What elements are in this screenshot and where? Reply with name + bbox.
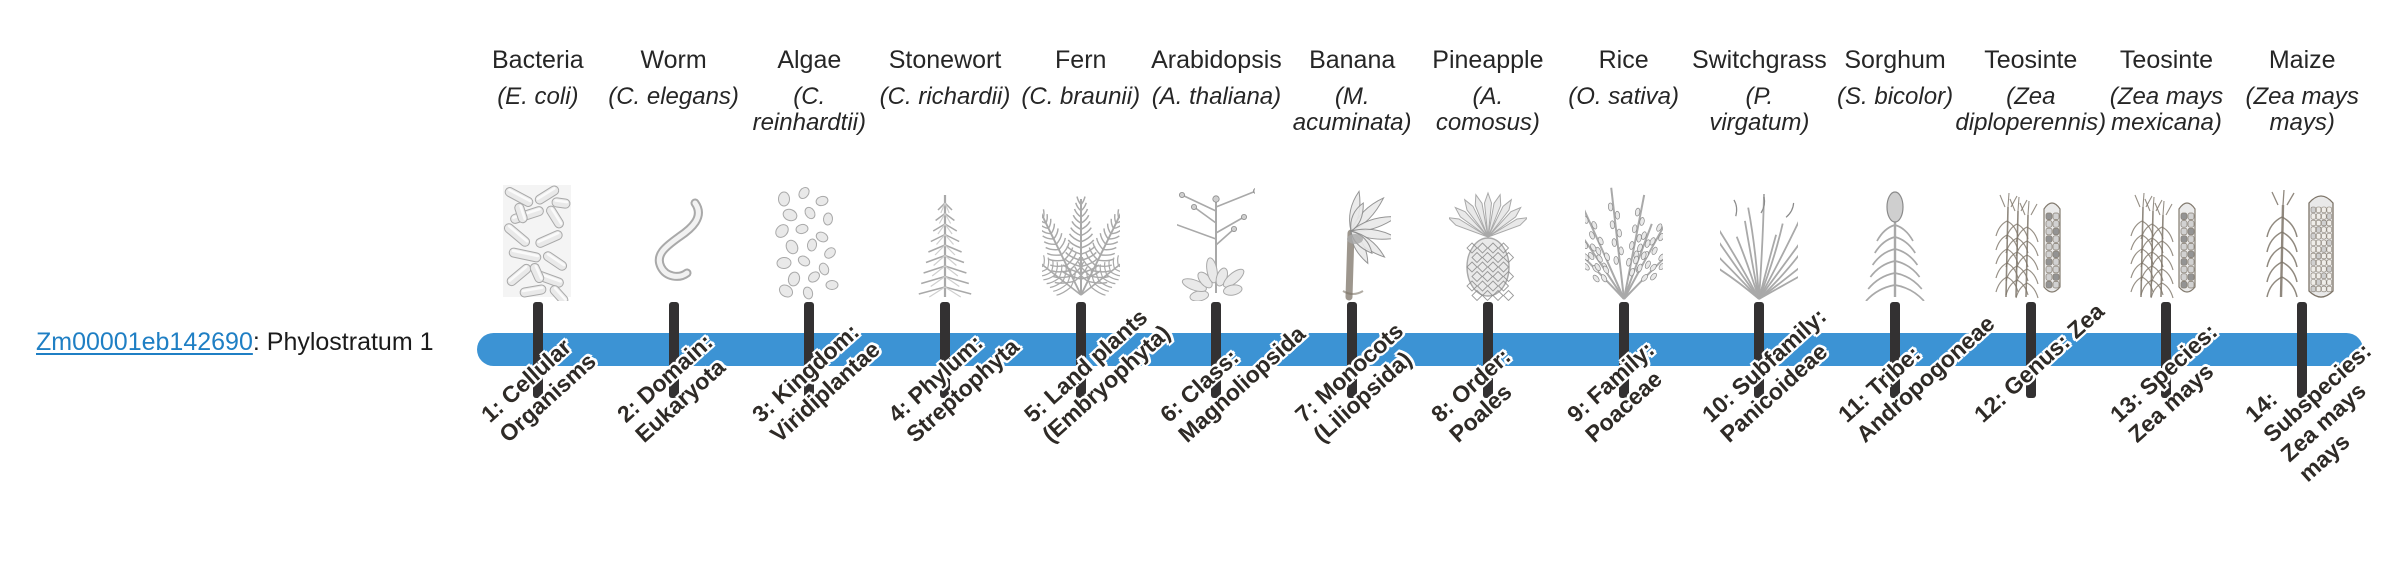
stratum-cell: 4: Phylum: Streptophyta — [877, 404, 1013, 580]
species-scientific-name: (A. comosus) — [1420, 84, 1556, 137]
species-column: Maize(Zea mays mays) — [2234, 46, 2370, 301]
species-column: Pineapple(A. comosus) — [1420, 46, 1556, 301]
stratum-cell: 11: Tribe: Andropogoneae — [1827, 404, 1963, 580]
species-scientific-name: (Zea mays mays) — [2234, 84, 2370, 137]
species-common-name: Teosinte — [2120, 46, 2213, 74]
species-common-name: Bacteria — [492, 46, 584, 74]
species-common-name: Algae — [777, 46, 841, 74]
species-scientific-name: (S. bicolor) — [1835, 84, 1955, 110]
stratum-cell: 3: Kingdom: Viridiplantae — [741, 404, 877, 580]
species-column: Stonewort(C. richardii) — [877, 46, 1013, 301]
fern-frond-icon — [1013, 185, 1149, 301]
species-column: Bacteria(E. coli) — [470, 46, 606, 301]
algae-cells-icon — [741, 185, 877, 301]
species-scientific-name: (M. acuminata) — [1284, 84, 1420, 137]
stonewort-plant-icon — [877, 185, 1013, 301]
species-common-name: Stonewort — [889, 46, 1002, 74]
species-column: Rice(O. sativa) — [1556, 46, 1692, 301]
teosinte-plant-ear-icon — [1963, 185, 2099, 301]
stratum-cell: 5: Land plants (Embryophyta) — [1013, 404, 1149, 580]
nematode-worm-icon — [606, 185, 742, 301]
species-common-name: Banana — [1309, 46, 1395, 74]
species-columns: Bacteria(E. coli)Worm(C. elegans)Algae(C… — [470, 46, 2370, 301]
species-scientific-name: (Zea mays mexicana) — [2099, 84, 2235, 137]
gene-id-link[interactable]: Zm00001eb142690 — [36, 328, 253, 356]
species-scientific-name: (A. thaliana) — [1150, 84, 1283, 110]
species-common-name: Arabidopsis — [1151, 46, 1282, 74]
species-column: Fern(C. braunii) — [1013, 46, 1149, 301]
stratum-cell: 13: Species: Zea mays — [2099, 404, 2235, 580]
stratum-cell: 2: Domain: Eukaryota — [606, 404, 742, 580]
species-scientific-name: (E. coli) — [495, 84, 580, 110]
species-scientific-name: (Zea diploperennis) — [1953, 84, 2108, 137]
gene-label-separator: : — [253, 328, 267, 356]
stratum-cell: 12: Genus: Zea — [1963, 404, 2099, 580]
species-column: Banana(M. acuminata) — [1284, 46, 1420, 301]
pineapple-fruit-icon — [1420, 185, 1556, 301]
species-common-name: Fern — [1055, 46, 1106, 74]
species-scientific-name: (P. virgatum) — [1691, 84, 1827, 137]
stratum-cell: 7: Monocots (Liliopsida) — [1284, 404, 1420, 580]
species-column: Sorghum(S. bicolor) — [1827, 46, 1963, 301]
sorghum-plant-icon — [1827, 185, 1963, 301]
maize-plant-ear-icon — [2234, 185, 2370, 301]
stratum-cell: 14: Subspecies: Zea mays mays — [2234, 404, 2370, 580]
species-column: Switchgrass(P. virgatum) — [1691, 46, 1827, 301]
species-scientific-name: (C. braunii) — [1019, 84, 1142, 110]
species-common-name: Pineapple — [1432, 46, 1543, 74]
species-column: Teosinte(Zea mays mexicana) — [2099, 46, 2235, 301]
phylostratum-value: Phylostratum 1 — [267, 328, 434, 356]
switchgrass-clump-icon — [1691, 185, 1827, 301]
species-common-name: Sorghum — [1844, 46, 1945, 74]
species-common-name: Teosinte — [1984, 46, 2077, 74]
species-column: Algae(C. reinhardtii) — [741, 46, 877, 301]
stratum-cell: 8: Order: Poales — [1420, 404, 1556, 580]
species-common-name: Rice — [1599, 46, 1649, 74]
stratum-cell: 9: Family: Poaceae — [1556, 404, 1692, 580]
species-scientific-name: (C. reinhardtii) — [741, 84, 877, 137]
arabidopsis-rosette-icon — [1149, 185, 1285, 301]
stratum-cell: 1: Cellular Organisms — [470, 404, 606, 580]
species-common-name: Maize — [2269, 46, 2336, 74]
species-column: Arabidopsis(A. thaliana) — [1149, 46, 1285, 301]
species-column: Teosinte(Zea diploperennis) — [1963, 46, 2099, 301]
gene-phylostratum-label: Zm00001eb142690: Phylostratum 1 — [36, 328, 466, 357]
species-scientific-name: (O. sativa) — [1566, 84, 1681, 110]
species-scientific-name: (C. richardii) — [878, 84, 1013, 110]
species-scientific-name: (C. elegans) — [606, 84, 741, 110]
banana-tree-icon — [1284, 185, 1420, 301]
species-common-name: Worm — [640, 46, 706, 74]
teosinte-plant-ear-icon — [2099, 185, 2235, 301]
species-column: Worm(C. elegans) — [606, 46, 742, 301]
stratum-labels: 1: Cellular Organisms2: Domain: Eukaryot… — [470, 404, 2370, 580]
stratum-cell: 6: Class: Magnoliopsida — [1149, 404, 1285, 580]
phylostratum-figure: Zm00001eb142690: Phylostratum 1 Bacteria… — [0, 0, 2400, 580]
bacteria-rods-icon — [470, 185, 606, 301]
rice-plant-icon — [1556, 185, 1692, 301]
stratum-cell: 10: Subfamily: Panicoideae — [1691, 404, 1827, 580]
species-common-name: Switchgrass — [1692, 46, 1827, 74]
